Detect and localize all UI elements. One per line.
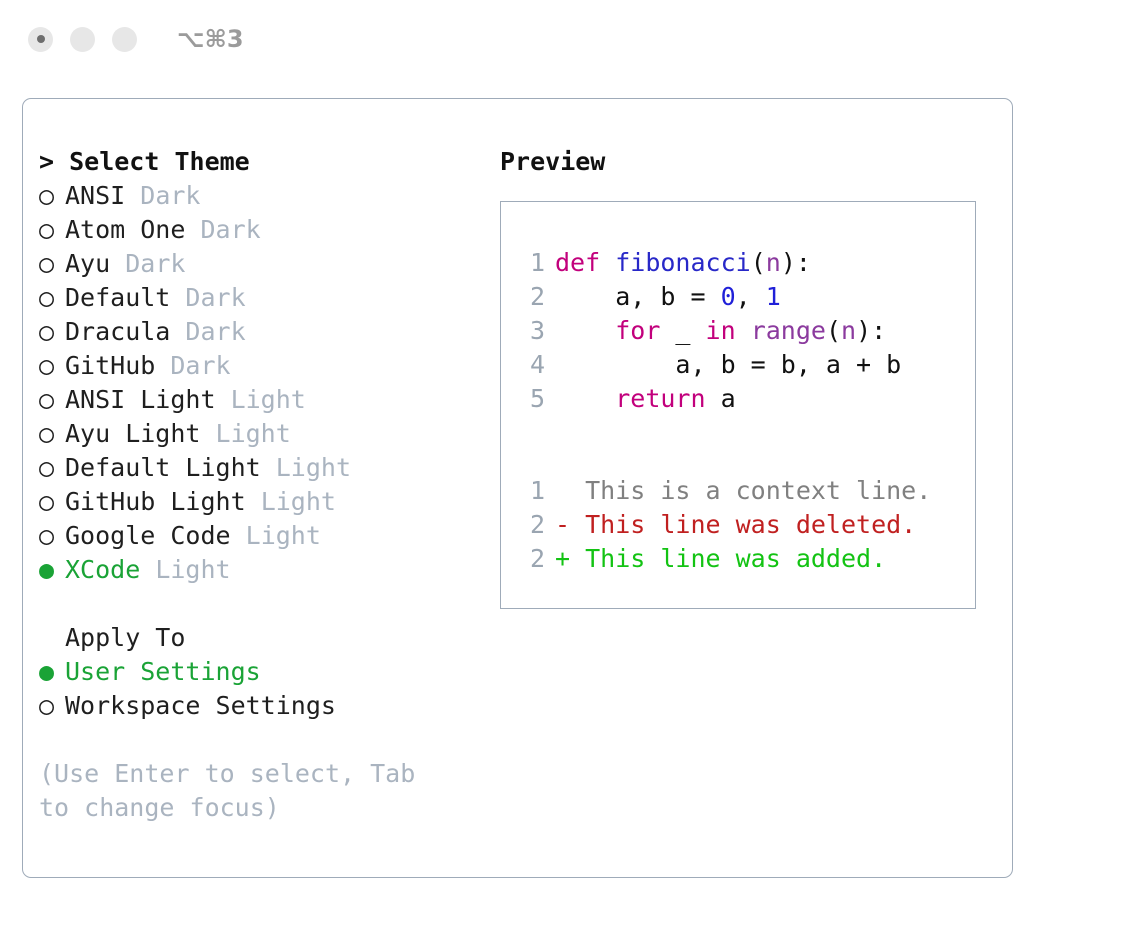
code-line: 5 return a	[511, 382, 975, 416]
theme-name-label: ANSI Light	[65, 385, 216, 414]
radio-unselected-icon: ○	[39, 451, 65, 485]
apply-to-label: Workspace Settings	[65, 691, 336, 720]
theme-option-row[interactable]: ○Default Dark	[39, 281, 469, 315]
code-token: ,	[736, 282, 766, 311]
line-number: 1	[511, 474, 545, 508]
theme-variant-badge: Light	[231, 385, 306, 414]
theme-variant-badge: Dark	[200, 215, 260, 244]
label-separator	[185, 215, 200, 244]
radio-unselected-icon: ○	[39, 689, 65, 723]
radio-unselected-icon: ○	[39, 179, 65, 213]
preview-heading: Preview	[500, 145, 990, 179]
code-token: (	[751, 248, 766, 277]
radio-unselected-icon: ○	[39, 349, 65, 383]
label-separator	[170, 317, 185, 346]
theme-name-label: Default Light	[65, 453, 261, 482]
theme-variant-badge: Light	[216, 419, 291, 448]
apply-to-heading: Apply To	[39, 621, 469, 655]
line-number: 2	[511, 280, 545, 314]
label-separator	[110, 249, 125, 278]
diff-sign: -	[555, 510, 585, 539]
label-separator	[125, 181, 140, 210]
preview-box: 1def fibonacci(n):2 a, b = 0, 13 for _ i…	[500, 201, 976, 609]
title-bar: ⌥⌘3	[0, 0, 1140, 78]
theme-name-label: Google Code	[65, 521, 231, 550]
apply-to-label: User Settings	[65, 657, 261, 686]
theme-option-row[interactable]: ○Ayu Light Light	[39, 417, 469, 451]
label-separator	[261, 453, 276, 482]
diff-sign	[555, 476, 585, 505]
apply-to-option-row[interactable]: ○Workspace Settings	[39, 689, 469, 723]
theme-name-label: Default	[65, 283, 170, 312]
theme-name-label: Ayu	[65, 249, 110, 278]
traffic-light-third-icon[interactable]	[112, 27, 137, 52]
theme-option-row[interactable]: ○Dracula Dark	[39, 315, 469, 349]
keyboard-shortcut-label: ⌥⌘3	[177, 25, 244, 53]
code-token: 0	[721, 282, 736, 311]
traffic-light-second-icon[interactable]	[70, 27, 95, 52]
label-separator	[200, 419, 215, 448]
label-separator	[246, 487, 261, 516]
radio-unselected-icon: ○	[39, 519, 65, 553]
radio-selected-icon: ●	[39, 553, 65, 587]
line-number: 4	[511, 348, 545, 382]
code-token: n	[766, 248, 781, 277]
line-number: 1	[511, 246, 545, 280]
line-number: 2	[511, 542, 545, 576]
theme-name-label: GitHub Light	[65, 487, 246, 516]
active-dot-inner	[37, 35, 45, 43]
theme-name-label: ANSI	[65, 181, 125, 210]
label-separator	[216, 385, 231, 414]
theme-name-label: Atom One	[65, 215, 185, 244]
theme-variant-badge: Light	[276, 453, 351, 482]
traffic-light-active-icon[interactable]	[28, 27, 53, 52]
label-separator	[155, 351, 170, 380]
line-number: 3	[511, 314, 545, 348]
radio-unselected-icon: ○	[39, 417, 65, 451]
theme-option-row[interactable]: ○ANSI Light Light	[39, 383, 469, 417]
code-line: 4 a, b = b, a + b	[511, 348, 975, 382]
diff-line: 2+ This line was added.	[511, 542, 975, 576]
theme-name-label: XCode	[65, 555, 140, 584]
diff-text: This line was deleted.	[585, 510, 916, 539]
theme-variant-badge: Dark	[170, 351, 230, 380]
theme-variant-badge: Dark	[125, 249, 185, 278]
label-separator	[170, 283, 185, 312]
theme-option-row[interactable]: ○Default Light Light	[39, 451, 469, 485]
radio-selected-icon: ●	[39, 655, 65, 689]
radio-unselected-icon: ○	[39, 383, 65, 417]
theme-variant-badge: Light	[261, 487, 336, 516]
code-line: 1def fibonacci(n):	[511, 246, 975, 280]
theme-name-label: Ayu Light	[65, 419, 200, 448]
diff-sample: 1 This is a context line.2- This line wa…	[511, 474, 975, 576]
theme-option-row[interactable]: ●XCode Light	[39, 553, 469, 587]
code-token: range	[751, 316, 826, 345]
radio-unselected-icon: ○	[39, 213, 65, 247]
window-controls	[28, 27, 137, 52]
diff-line: 2- This line was deleted.	[511, 508, 975, 542]
theme-option-row[interactable]: ○Atom One Dark	[39, 213, 469, 247]
theme-name-label: GitHub	[65, 351, 155, 380]
code-token: return	[615, 384, 705, 413]
code-token: a, b = b, a + b	[555, 350, 901, 379]
code-token: for	[615, 316, 660, 345]
code-line: 2 a, b = 0, 1	[511, 280, 975, 314]
theme-option-row[interactable]: ○ANSI Dark	[39, 179, 469, 213]
preview-column: Preview 1def fibonacci(n):2 a, b = 0, 13…	[500, 145, 990, 609]
diff-sign: +	[555, 544, 585, 573]
theme-variant-badge: Dark	[185, 283, 245, 312]
code-token: a	[706, 384, 736, 413]
code-token: in	[706, 316, 736, 345]
diff-line: 1 This is a context line.	[511, 474, 975, 508]
code-token: a, b =	[555, 282, 721, 311]
code-token	[555, 384, 615, 413]
theme-variant-badge: Dark	[185, 317, 245, 346]
radio-unselected-icon: ○	[39, 315, 65, 349]
main-panel: > Select Theme ○ANSI Dark○Atom One Dark○…	[22, 98, 1013, 878]
code-token: _	[660, 316, 705, 345]
hint-spacer	[39, 723, 469, 757]
radio-unselected-icon: ○	[39, 247, 65, 281]
theme-variant-badge: Light	[155, 555, 230, 584]
theme-list[interactable]: ○ANSI Dark○Atom One Dark○Ayu Dark○Defaul…	[39, 179, 469, 587]
theme-variant-badge: Light	[246, 521, 321, 550]
preview-gap	[511, 416, 975, 474]
radio-unselected-icon: ○	[39, 485, 65, 519]
keyboard-hint-text: (Use Enter to select, Tab to change focu…	[39, 757, 443, 825]
theme-variant-badge: Dark	[140, 181, 200, 210]
apply-to-option-row[interactable]: ●User Settings	[39, 655, 469, 689]
select-theme-heading: > Select Theme	[39, 145, 469, 179]
apply-to-list[interactable]: ●User Settings○Workspace Settings	[39, 655, 469, 723]
code-token: (	[826, 316, 841, 345]
code-token	[555, 316, 615, 345]
code-line: 3 for _ in range(n):	[511, 314, 975, 348]
line-number: 5	[511, 382, 545, 416]
code-token: fibonacci	[615, 248, 750, 277]
code-token: def	[555, 248, 615, 277]
theme-name-label: Dracula	[65, 317, 170, 346]
radio-unselected-icon: ○	[39, 281, 65, 315]
code-token: 1	[766, 282, 781, 311]
theme-option-row[interactable]: ○GitHub Light Light	[39, 485, 469, 519]
theme-selector-column: > Select Theme ○ANSI Dark○Atom One Dark○…	[39, 145, 469, 825]
theme-option-row[interactable]: ○Ayu Dark	[39, 247, 469, 281]
code-token: n	[841, 316, 856, 345]
label-separator	[140, 555, 155, 584]
theme-option-row[interactable]: ○Google Code Light	[39, 519, 469, 553]
diff-text: This line was added.	[585, 544, 886, 573]
code-sample: 1def fibonacci(n):2 a, b = 0, 13 for _ i…	[511, 246, 975, 416]
app-window: ⌥⌘3 > Select Theme ○ANSI Dark○Atom One D…	[0, 0, 1140, 934]
code-token	[736, 316, 751, 345]
list-spacer	[39, 587, 469, 621]
code-token: ):	[781, 248, 811, 277]
diff-text: This is a context line.	[585, 476, 931, 505]
theme-option-row[interactable]: ○GitHub Dark	[39, 349, 469, 383]
label-separator	[231, 521, 246, 550]
line-number: 2	[511, 508, 545, 542]
code-token: ):	[856, 316, 886, 345]
